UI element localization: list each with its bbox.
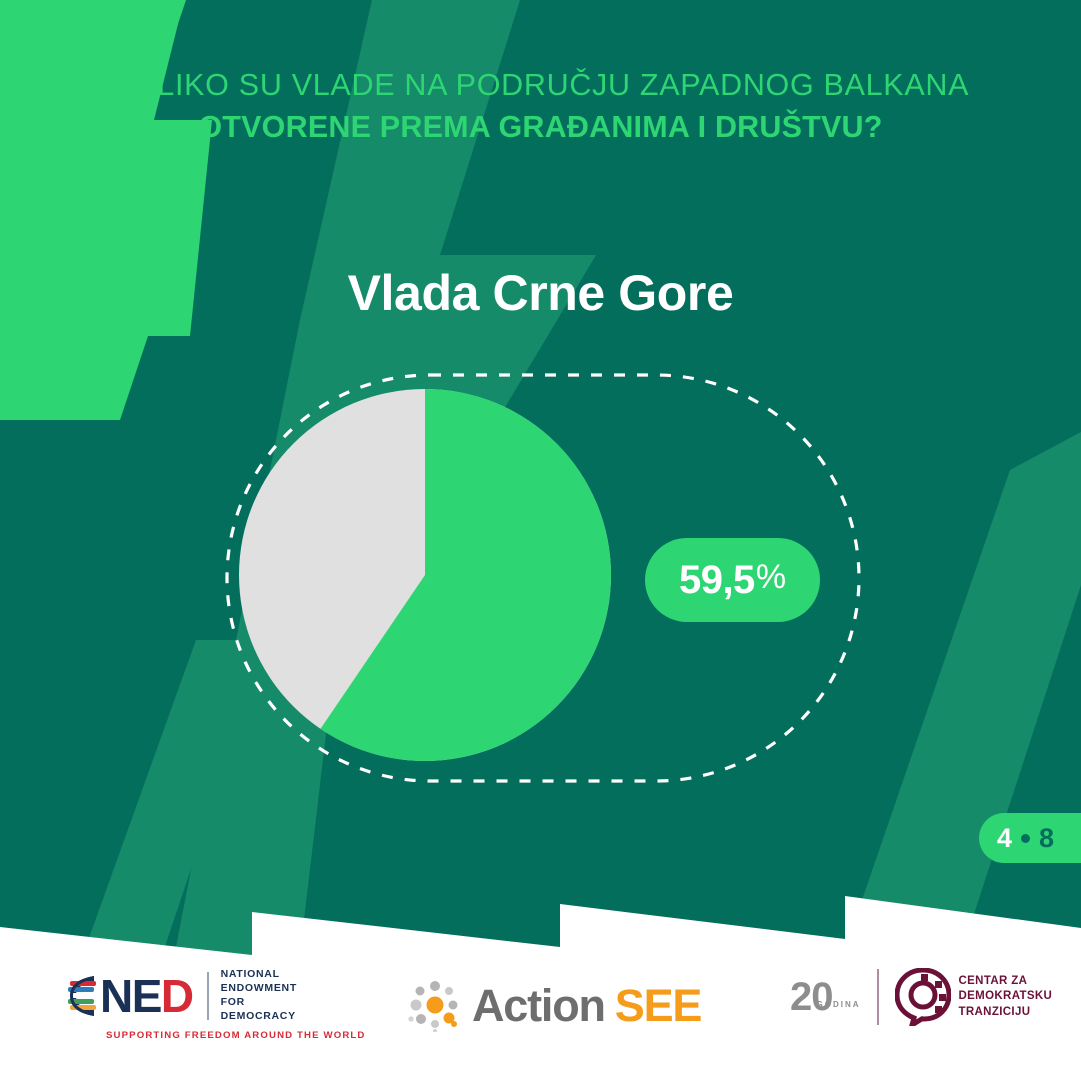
cdt-description-line-3: TRANZICIJU <box>959 1006 1031 1018</box>
headline: KOLIKO SU VLADE NA PODRUČJU ZAPADNOG BAL… <box>0 68 1081 146</box>
ned-description: NATIONAL ENDOWMENT FOR DEMOCRACY <box>221 968 297 1023</box>
logo-cdt: 20 GODINA CENTAR ZA DEMOKRATSKU TRANZICI… <box>790 968 1052 1026</box>
ned-description-line-3: FOR <box>221 996 245 1008</box>
background-graphics <box>0 0 1081 1080</box>
percentage-symbol: % <box>756 560 786 594</box>
percentage-badge: 59,5 % <box>645 538 820 622</box>
page-counter-current: 4 <box>997 825 1012 852</box>
ned-tagline: SUPPORTING FREEDOM AROUND THE WORLD <box>106 1030 365 1041</box>
ned-description-line-2: ENDOWMENT <box>221 982 297 994</box>
page-title: Vlada Crne Gore <box>0 264 1081 322</box>
cdt-anniversary-number: 20 <box>790 977 833 1017</box>
ned-wordmark-primary: NE <box>100 973 161 1019</box>
cdt-description-line-2: DEMOKRATSKU <box>959 990 1053 1002</box>
logo-ned: NE D NATIONAL ENDOWMENT FOR DEMOCRACY SU… <box>64 968 365 1041</box>
cdt-anniversary-word: GODINA <box>817 1000 861 1009</box>
page-counter-total: 8 <box>1039 825 1054 852</box>
ned-description-line-1: NATIONAL <box>221 968 280 980</box>
cdt-description: CENTAR ZA DEMOKRATSKU TRANZICIJU <box>959 974 1053 1021</box>
footer-logo-bar: NE D NATIONAL ENDOWMENT FOR DEMOCRACY SU… <box>0 952 1081 1080</box>
cdt-divider <box>877 969 879 1025</box>
cdt-description-line-1: CENTAR ZA <box>959 975 1028 987</box>
page-counter-badge: 4 8 <box>979 813 1081 863</box>
ned-description-line-4: DEMOCRACY <box>221 1010 296 1022</box>
infographic-poster: KOLIKO SU VLADE NA PODRUČJU ZAPADNOG BAL… <box>0 0 1081 1080</box>
headline-line-1: KOLIKO SU VLADE NA PODRUČJU ZAPADNOG BAL… <box>0 68 1081 104</box>
headline-line-2: OTVORENE PREMA GRAĐANIMA I DRUŠTVU? <box>0 110 1081 146</box>
dot-cluster-icon <box>408 978 462 1032</box>
bullet-dot-icon <box>1021 834 1030 843</box>
actionsee-wordmark-primary: Action <box>472 983 605 1028</box>
logo-actionsee: ActionSEE <box>408 978 701 1032</box>
speech-bubble-gear-icon <box>895 968 951 1026</box>
percentage-value: 59,5 <box>679 560 755 600</box>
ned-divider <box>207 972 209 1020</box>
globe-stripes-icon <box>64 972 100 1020</box>
ned-wordmark-accent: D <box>161 973 193 1019</box>
actionsee-wordmark-accent: SEE <box>615 983 701 1028</box>
